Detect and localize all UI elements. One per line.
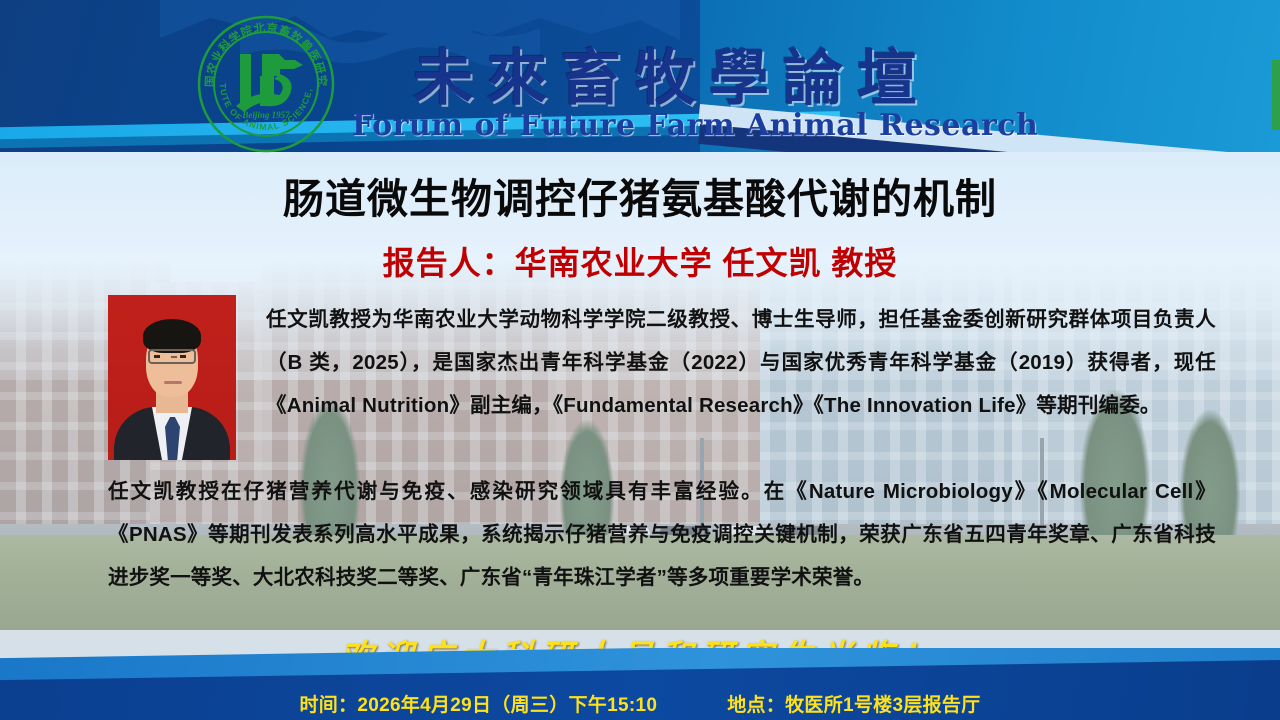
speaker-portrait xyxy=(108,295,236,460)
bio-paragraph-1-text: 任文凯教授为华南农业大学动物科学学院二级教授、博士生导师，担任基金委创新研究群体… xyxy=(266,298,1216,427)
speaker-line: 报告人：华南农业大学 任文凯 教授 xyxy=(0,238,1280,284)
bio-paragraph-2-text: 任文凯教授在仔猪营养代谢与免疫、感染研究领域具有丰富经验。在《Nature Mi… xyxy=(108,470,1216,599)
footer-place: 地点：牧医所1号楼3层报告厅 xyxy=(727,690,980,717)
bio-paragraph-2: 任文凯教授在仔猪营养代谢与免疫、感染研究领域具有丰富经验。在《Nature Mi… xyxy=(108,470,1216,599)
seminar-poster: 中国农业科学院北京畜牧兽医研究所 INSTITUTE OF ANIMAL SCI… xyxy=(0,0,1280,720)
forum-title-cn: 未來畜牧學論壇 xyxy=(362,30,982,117)
bio-paragraph-1: 任文凯教授为华南农业大学动物科学学院二级教授、博士生导师，担任基金委创新研究群体… xyxy=(266,298,1216,427)
talk-title: 肠道微生物调控仔猪氨基酸代谢的机制 xyxy=(0,165,1280,225)
footer-time: 时间：2026年4月29日（周三）下午15:10 xyxy=(299,690,657,717)
footer-info-bar: 时间：2026年4月29日（周三）下午15:10 地点：牧医所1号楼3层报告厅 xyxy=(0,686,1280,720)
svg-text:Beijing 1957: Beijing 1957 xyxy=(241,110,290,120)
forum-title-en: Forum of Future Farm Animal Research xyxy=(352,108,992,143)
banner-green-accent xyxy=(1272,60,1280,130)
institute-logo-icon: 中国农业科学院北京畜牧兽医研究所 INSTITUTE OF ANIMAL SCI… xyxy=(196,14,336,154)
